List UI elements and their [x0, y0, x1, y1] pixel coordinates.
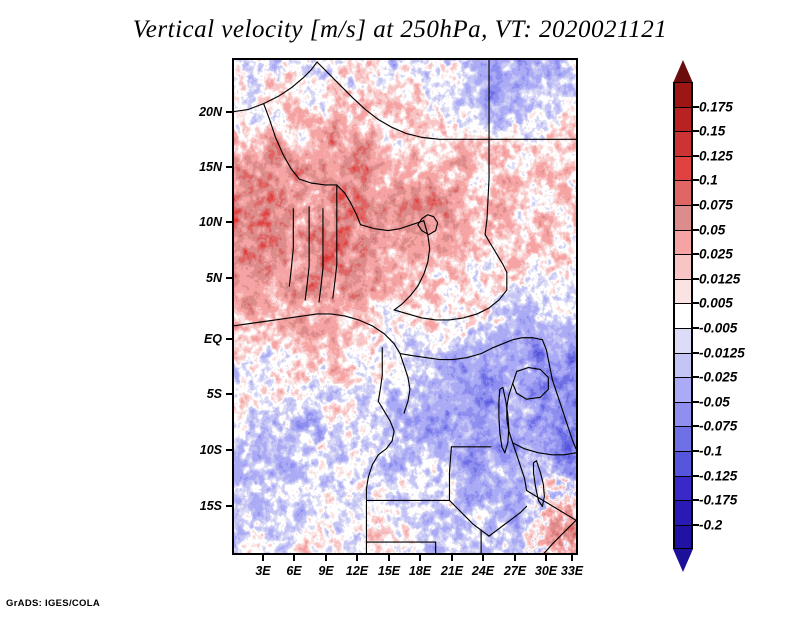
colorbar-tick-label: 0.005 [699, 296, 733, 311]
y-tick-mark [226, 505, 232, 507]
x-tick-label: 6E [286, 564, 301, 578]
colorbar-tick-label: -0.2 [699, 517, 722, 532]
x-tick-label: 27E [504, 564, 526, 578]
colorbar-cell [673, 254, 693, 279]
x-tick-mark [571, 555, 573, 561]
colorbar-tick-label: 0.125 [699, 148, 733, 163]
colorbar-tick-label: 0.15 [699, 124, 725, 139]
y-tick-mark [226, 166, 232, 168]
colorbar-cell [673, 131, 693, 156]
colorbar-tick-label: 0.025 [699, 247, 733, 262]
colorbar-cell [673, 82, 693, 107]
colorbar-tick-label: -0.1 [699, 444, 722, 459]
colorbar-tick-label: 0.05 [699, 222, 725, 237]
y-tick-label: 15S [178, 499, 222, 513]
y-tick-label: 5N [178, 271, 222, 285]
y-tick-mark [226, 338, 232, 340]
x-tick-mark [419, 555, 421, 561]
colorbar-cell [673, 377, 693, 402]
colorbar-cell [673, 525, 693, 550]
x-tick-label: 33E [561, 564, 583, 578]
colorbar-cell [673, 500, 693, 525]
colorbar-cell [673, 353, 693, 378]
x-tick-mark [293, 555, 295, 561]
colorbar-cell [673, 205, 693, 230]
colorbar-tick-label: -0.125 [699, 468, 737, 483]
colorbar-tick-label: -0.0125 [699, 345, 745, 360]
colorbar-cells [673, 82, 693, 549]
footer-credit: GrADS: IGES/COLA [6, 598, 100, 609]
y-tick-label: 10S [178, 443, 222, 457]
y-tick-mark [226, 111, 232, 113]
vertical-velocity-field [234, 60, 576, 553]
colorbar-cell [673, 230, 693, 255]
colorbar-tick-label: -0.175 [699, 493, 737, 508]
colorbar-cell [673, 279, 693, 304]
x-tick-mark [262, 555, 264, 561]
x-tick-label: 30E [535, 564, 557, 578]
y-tick-label: EQ [178, 332, 222, 346]
x-tick-label: 21E [441, 564, 463, 578]
map-plot-area[interactable] [232, 58, 578, 555]
x-tick-mark [356, 555, 358, 561]
colorbar-extend-bottom-arrow [673, 549, 693, 572]
x-tick-mark [388, 555, 390, 561]
x-tick-label: 9E [318, 564, 333, 578]
colorbar-cell [673, 476, 693, 501]
y-tick-mark [226, 221, 232, 223]
colorbar-cell [673, 107, 693, 132]
colorbar-cell [673, 426, 693, 451]
colorbar-tick-label: 0.075 [699, 198, 733, 213]
page-title: Vertical velocity [m/s] at 250hPa, VT: 2… [0, 16, 800, 44]
colorbar-tick-label: -0.005 [699, 321, 737, 336]
x-tick-label: 18E [409, 564, 431, 578]
x-tick-mark [514, 555, 516, 561]
y-tick-mark [226, 277, 232, 279]
colorbar-cell [673, 328, 693, 353]
x-tick-mark [325, 555, 327, 561]
colorbar-cell [673, 180, 693, 205]
x-tick-label: 3E [255, 564, 270, 578]
colorbar-tick-label: -0.05 [699, 394, 730, 409]
x-tick-mark [545, 555, 547, 561]
y-tick-label: 20N [178, 105, 222, 119]
colorbar-tick-label: -0.075 [699, 419, 737, 434]
colorbar-tick-label: 0.1 [699, 173, 718, 188]
y-tick-label: 5S [178, 387, 222, 401]
x-tick-label: 12E [346, 564, 368, 578]
colorbar-extend-top-arrow [673, 60, 693, 83]
x-tick-label: 24E [472, 564, 494, 578]
y-tick-label: 10N [178, 215, 222, 229]
colorbar-cell [673, 156, 693, 181]
y-tick-mark [226, 449, 232, 451]
y-tick-mark [226, 393, 232, 395]
colorbar-cell [673, 451, 693, 476]
colorbar-tick-label: -0.025 [699, 370, 737, 385]
x-tick-mark [451, 555, 453, 561]
colorbar-cell [673, 402, 693, 427]
y-tick-label: 15N [178, 160, 222, 174]
colorbar-tick-label: 0.175 [699, 99, 733, 114]
x-tick-mark [482, 555, 484, 561]
x-tick-label: 15E [378, 564, 400, 578]
colorbar-tick-label: 0.0125 [699, 271, 740, 286]
colorbar-cell [673, 303, 693, 328]
